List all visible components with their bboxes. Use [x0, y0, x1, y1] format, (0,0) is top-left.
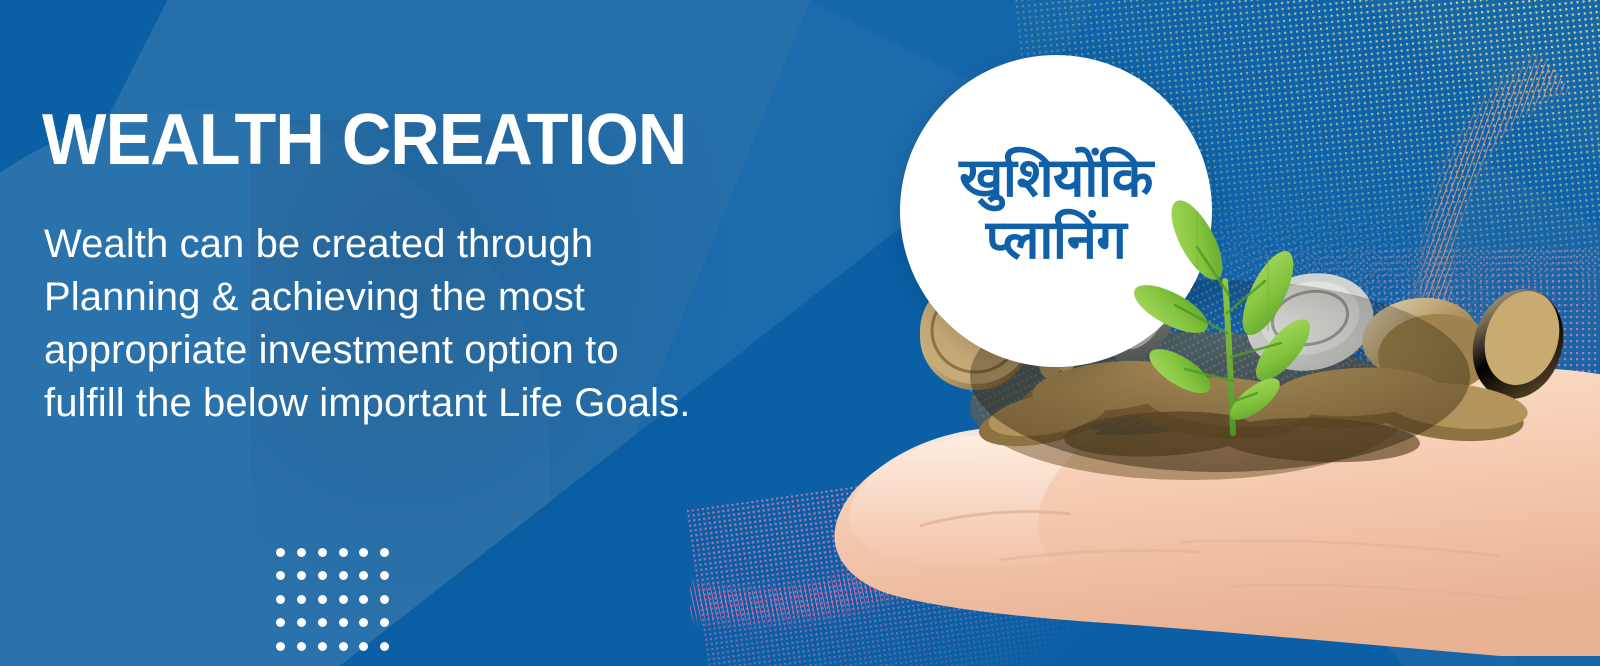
grid-dot: [339, 618, 348, 627]
wealth-creation-banner: WEALTH CREATION Wealth can be created th…: [0, 0, 1600, 666]
grid-dot: [318, 571, 327, 580]
grid-dot: [380, 548, 389, 557]
seedling-illustration: [1105, 185, 1345, 445]
grid-dot: [359, 595, 368, 604]
grid-dot: [339, 548, 348, 557]
grid-dot: [297, 595, 306, 604]
body-copy: Wealth can be created through Planning &…: [44, 218, 764, 430]
grid-dot: [276, 548, 285, 557]
grid-dot: [359, 642, 368, 651]
grid-dot: [318, 548, 327, 557]
grid-dot: [318, 595, 327, 604]
body-copy-line: Planning & achieving the most: [44, 271, 764, 324]
grid-dot: [276, 595, 285, 604]
grid-dot: [380, 595, 389, 604]
grid-dot: [359, 548, 368, 557]
grid-dot: [276, 571, 285, 580]
page-title: WEALTH CREATION: [42, 104, 686, 176]
grid-dot: [380, 618, 389, 627]
grid-dot: [339, 595, 348, 604]
grid-dot: [359, 618, 368, 627]
body-copy-line: Wealth can be created through: [44, 218, 764, 271]
body-copy-line: appropriate investment option to: [44, 324, 764, 377]
body-copy-line: fulfill the below important Life Goals.: [44, 377, 764, 430]
grid-dot: [380, 571, 389, 580]
grid-dot: [276, 642, 285, 651]
grid-dot: [297, 548, 306, 557]
grid-dot: [339, 571, 348, 580]
dot-grid-decoration: [276, 548, 401, 666]
grid-dot: [297, 618, 306, 627]
grid-dot: [297, 642, 306, 651]
grid-dot: [318, 618, 327, 627]
grid-dot: [297, 571, 306, 580]
grid-dot: [318, 642, 327, 651]
grid-dot: [276, 618, 285, 627]
grid-dot: [380, 642, 389, 651]
grid-dot: [359, 571, 368, 580]
grid-dot: [339, 642, 348, 651]
